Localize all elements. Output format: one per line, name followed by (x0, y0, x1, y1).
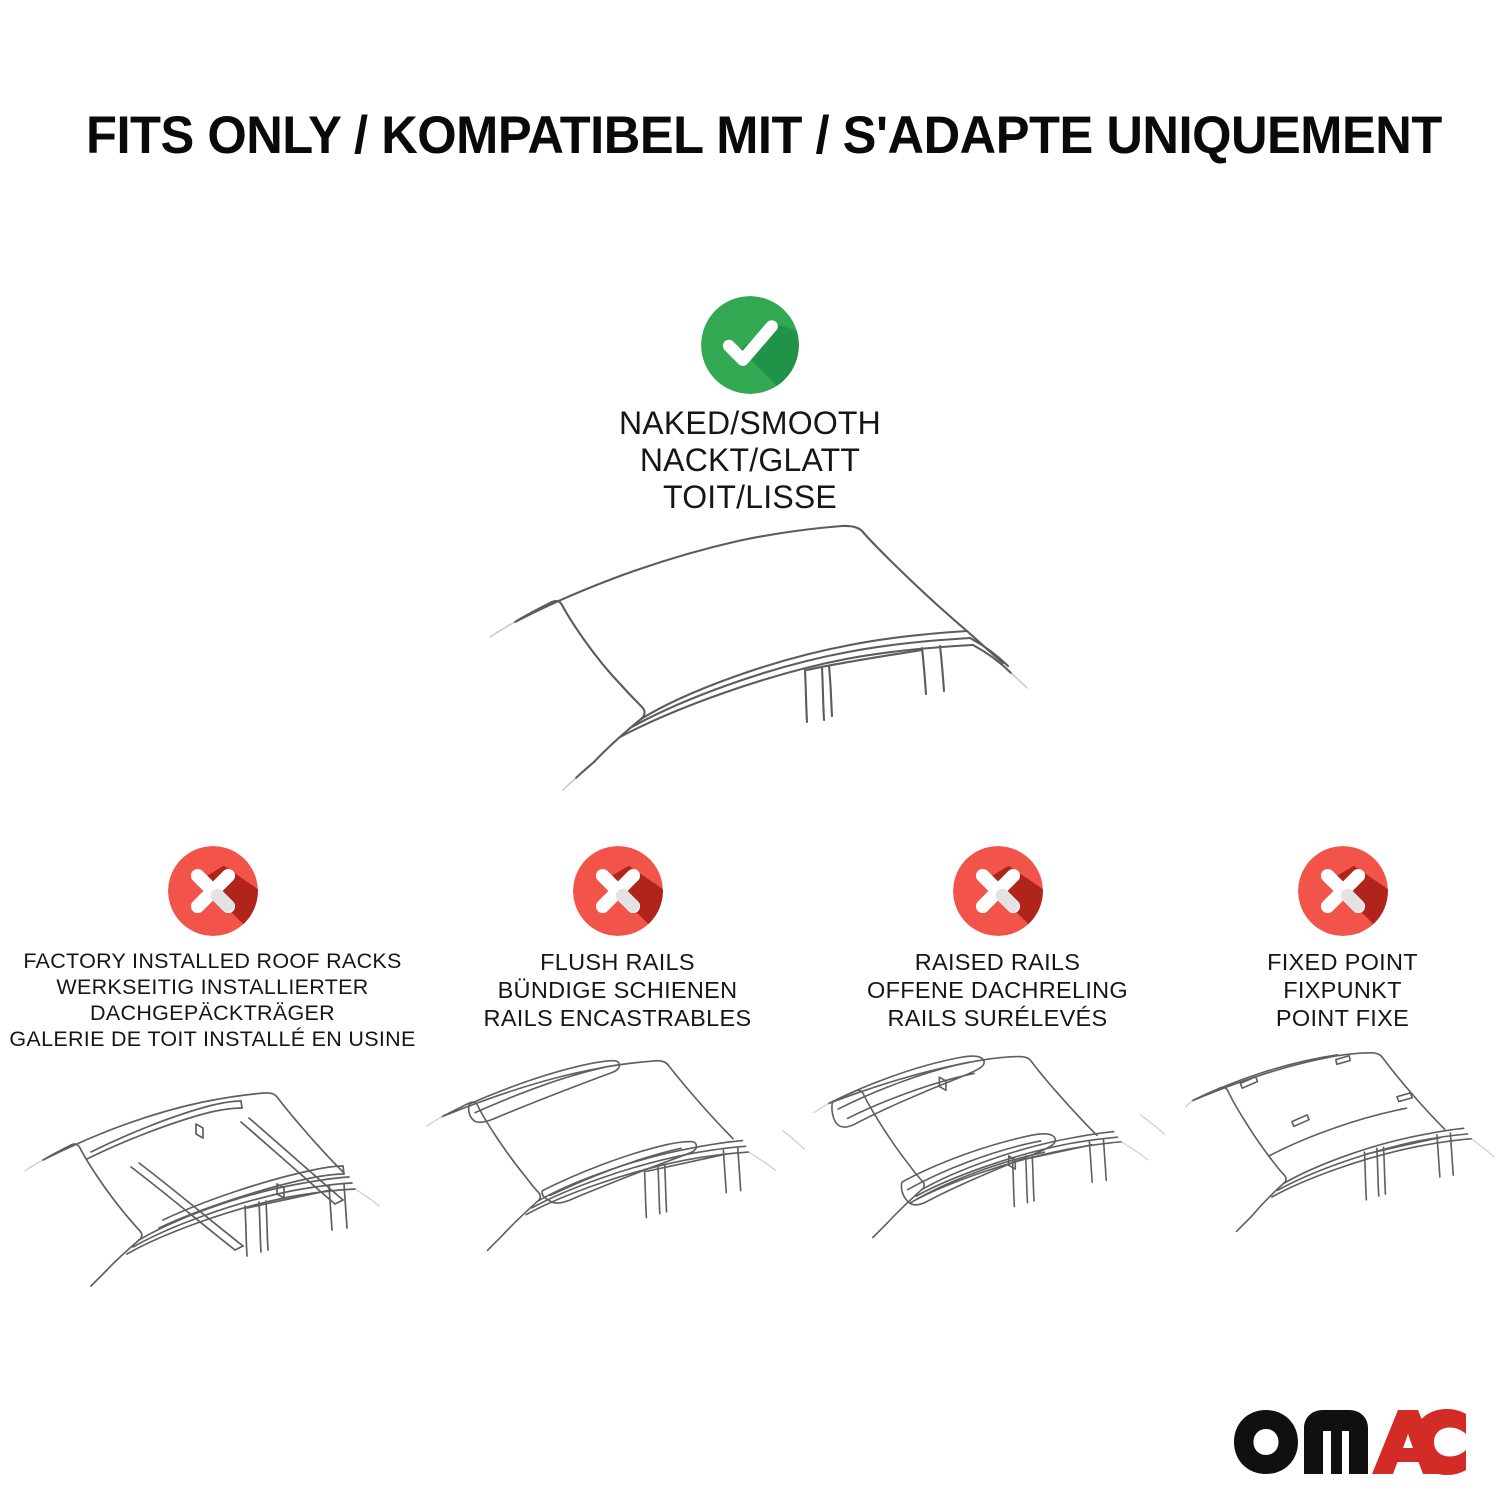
caption-line-en: RAISED RAILS (810, 948, 1185, 976)
car-roof-raised-rails-illustration (810, 1040, 1185, 1270)
car-roof-fixed-point-illustration (1185, 1040, 1500, 1270)
x-circle-icon (953, 846, 1043, 936)
car-roof-factory-rack-illustration (0, 1060, 425, 1290)
caption-line-de: OFFENE DACHRELING (810, 976, 1185, 1004)
compatible-badge-wrap (0, 296, 1500, 394)
flush-rails-caption: FLUSH RAILS BÜNDIGE SCHIENEN RAILS ENCAS… (425, 948, 810, 1032)
car-roof-flush-rails-illustration (425, 1040, 810, 1270)
x-circle-icon (1298, 846, 1388, 936)
page-title: FITS ONLY / KOMPATIBEL MIT / S'ADAPTE UN… (86, 104, 1366, 168)
incompatible-section: FACTORY INSTALLED ROOF RACKS WERKSEITIG … (0, 846, 1500, 1290)
caption-line-en: FACTORY INSTALLED ROOF RACKS (0, 948, 425, 974)
caption-line-de: FIXPUNKT (1185, 976, 1500, 1004)
car-roof-naked-smooth-illustration (470, 500, 1050, 800)
x-circle-icon (573, 846, 663, 936)
logo-letter-m (1304, 1410, 1368, 1474)
caption-line-en: FIXED POINT (1185, 948, 1500, 976)
x-circle-icon (168, 846, 258, 936)
raised-rails-badge-wrap (810, 846, 1185, 942)
flush-rails-badge-wrap (425, 846, 810, 942)
caption-line-de-2: DACHGEPÄCKTRÄGER (0, 1000, 425, 1026)
caption-line-de-1: WERKSEITIG INSTALLIERTER (0, 974, 425, 1000)
factory-rack-caption: FACTORY INSTALLED ROOF RACKS WERKSEITIG … (0, 948, 425, 1052)
compatible-section: NAKED/SMOOTH NACKT/GLATT TOIT/LISSE (0, 296, 1500, 516)
omac-logo (1232, 1404, 1468, 1478)
fixed-point-caption: FIXED POINT FIXPUNKT POINT FIXE (1185, 948, 1500, 1032)
compatible-caption-line-de: NACKT/GLATT (0, 442, 1500, 479)
caption-line-fr: POINT FIXE (1185, 1004, 1500, 1032)
caption-line-de: BÜNDIGE SCHIENEN (425, 976, 810, 1004)
logo-letter-o (1234, 1410, 1298, 1474)
caption-line-en: FLUSH RAILS (425, 948, 810, 976)
incompatible-item-flush-rails: FLUSH RAILS BÜNDIGE SCHIENEN RAILS ENCAS… (425, 846, 810, 1290)
incompatible-item-raised-rails: RAISED RAILS OFFENE DACHRELING RAILS SUR… (810, 846, 1185, 1290)
factory-rack-badge-wrap (0, 846, 425, 942)
caption-line-fr: RAILS SURÉLEVÉS (810, 1004, 1185, 1032)
fixed-point-badge-wrap (1185, 846, 1500, 942)
caption-line-fr: RAILS ENCASTRABLES (425, 1004, 810, 1032)
raised-rails-caption: RAISED RAILS OFFENE DACHRELING RAILS SUR… (810, 948, 1185, 1032)
incompatible-item-fixed-point: FIXED POINT FIXPUNKT POINT FIXE (1185, 846, 1500, 1290)
caption-line-fr: GALERIE DE TOIT INSTALLÉ EN USINE (0, 1026, 425, 1052)
incompatible-item-factory-installed-roof-racks: FACTORY INSTALLED ROOF RACKS WERKSEITIG … (0, 846, 425, 1290)
check-circle-icon (701, 296, 799, 394)
compatible-caption-line-en: NAKED/SMOOTH (0, 405, 1500, 442)
